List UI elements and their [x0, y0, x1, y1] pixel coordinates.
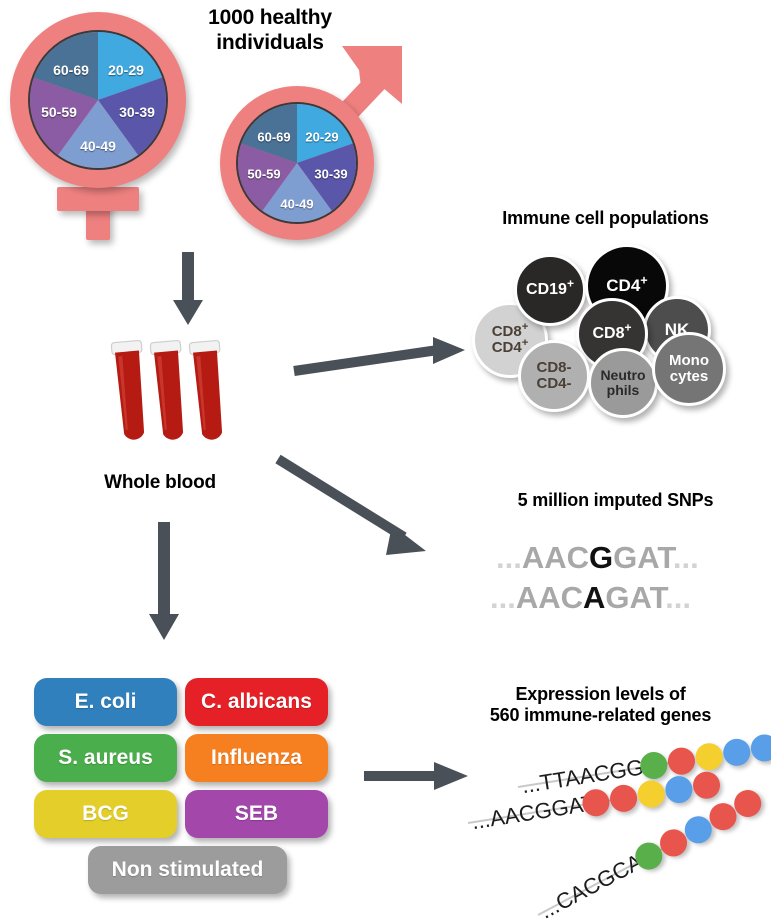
snp-sequence-bottom: ...AACAGAT...	[490, 580, 691, 616]
snp-suffix-dots: ...	[665, 580, 691, 615]
male-age-pie: 20-29 30-39 40-49 50-59 60-69	[236, 102, 358, 224]
stimulant-label: BCG	[82, 802, 129, 826]
pie-label-60-69: 60-69	[257, 130, 290, 145]
stimulant-seb[interactable]: SEB	[185, 790, 328, 838]
stimulant-label: S. aureus	[58, 746, 153, 770]
stimulant-influenza[interactable]: Influenza	[185, 734, 328, 782]
cell-sup-2: +	[522, 337, 529, 349]
whole-blood-tubes	[100, 338, 230, 458]
snp-before-bases: AAC	[516, 580, 583, 615]
cell-label-line2: CD4-	[536, 375, 571, 392]
strand-sequence: ...AACGGAT	[470, 790, 597, 835]
immune-cell-neutrophils[interactable]: Neutrophils	[588, 348, 658, 418]
cell-label-line1: CD8-	[536, 359, 571, 376]
cell-label-line1: CD8	[592, 325, 624, 342]
stimulant-label: SEB	[235, 802, 278, 826]
snp-before-bases: AAC	[522, 540, 589, 575]
cell-label-line2: phils	[607, 382, 640, 398]
immune-cell-cluster: CD8+CD4+ CD19+ CD4+ NK CD8+ CD8-CD4- Neu…	[440, 240, 771, 420]
female-symbol-crossbar	[57, 187, 139, 211]
cohort-to-blood-arrow	[160, 252, 220, 330]
immune-populations-title: Immune cell populations	[440, 208, 771, 229]
immune-cell-monocytes[interactable]: Monocytes	[652, 332, 726, 406]
snp-after-bases: GAT	[613, 540, 673, 575]
snp-prefix-dots: ...	[496, 540, 522, 575]
expression-title: Expression levels of 560 immune-related …	[430, 684, 771, 726]
immune-cell-cd19p[interactable]: CD19+	[514, 254, 586, 326]
snp-variant-base: A	[583, 580, 605, 615]
expression-title-line1: Expression levels of	[430, 684, 771, 705]
snp-after-bases: GAT	[605, 580, 665, 615]
stimulant-label: C. albicans	[201, 690, 312, 714]
cell-label-line1: Neutro	[600, 367, 645, 383]
male-gender-symbol: 20-29 30-39 40-49 50-59 60-69	[206, 40, 406, 240]
blood-to-stimulants-arrow	[140, 522, 200, 644]
stimulant-s-aureus[interactable]: S. aureus	[34, 734, 177, 782]
blood-tubes-svg	[100, 338, 230, 460]
stimulants-to-expression-arrow	[362, 756, 472, 796]
female-age-pie: 20-29 30-39 40-49 50-59 60-69	[28, 30, 168, 170]
cell-label-line1: Mono	[669, 352, 709, 369]
stimulant-label: E. coli	[75, 690, 137, 714]
stimulant-c-albicans[interactable]: C. albicans	[185, 678, 328, 726]
expression-title-line2: 560 immune-related genes	[430, 705, 771, 726]
strand-bead	[636, 779, 667, 810]
cell-label-line1: CD8	[492, 323, 522, 340]
cell-label-line1: CD19	[526, 281, 567, 298]
pie-label-30-39: 30-39	[119, 104, 155, 120]
stimulant-e-coli[interactable]: E. coli	[34, 678, 177, 726]
pie-label-50-59: 50-59	[247, 167, 280, 182]
strand-bead	[608, 783, 639, 814]
strand-bead	[721, 737, 752, 768]
pie-label-60-69: 60-69	[53, 62, 89, 78]
snp-prefix-dots: ...	[490, 580, 516, 615]
pie-label-20-29: 20-29	[108, 62, 144, 78]
pie-label-40-49: 40-49	[80, 138, 116, 154]
stimulant-non-stimulated[interactable]: Non stimulated	[88, 846, 287, 894]
cell-sup-1: +	[567, 276, 574, 290]
strand-bead	[691, 770, 722, 801]
snp-suffix-dots: ...	[673, 540, 699, 575]
pie-label-40-49: 40-49	[280, 197, 313, 212]
cell-label-line2: CD4	[492, 339, 522, 356]
stimulant-label: Influenza	[211, 746, 302, 770]
snp-variant-base: G	[589, 540, 613, 575]
cell-sup-1: +	[640, 272, 647, 287]
blood-to-snp-arrow	[276, 455, 446, 565]
pie-label-30-39: 30-39	[314, 167, 347, 182]
cell-label-line1: CD4	[606, 276, 640, 295]
pie-label-50-59: 50-59	[41, 104, 77, 120]
strand-bead	[663, 774, 694, 805]
pie-label-20-29: 20-29	[305, 130, 338, 145]
cell-label-line2: cytes	[670, 368, 708, 385]
cell-sup-1: +	[522, 321, 529, 333]
strand-bead	[749, 733, 771, 764]
stimulant-bcg[interactable]: BCG	[34, 790, 177, 838]
whole-blood-label: Whole blood	[60, 472, 260, 494]
immune-cell-cd8n-cd4n[interactable]: CD8-CD4-	[518, 340, 590, 412]
snp-title: 5 million imputed SNPs	[460, 490, 771, 511]
stimulant-label: Non stimulated	[112, 858, 264, 882]
figure-canvas: 1000 healthy individuals 20-29 30-39 40-…	[0, 0, 771, 922]
cell-sup-1: +	[625, 320, 632, 334]
female-gender-symbol: 20-29 30-39 40-49 50-59 60-69	[10, 12, 190, 242]
snp-sequence-top: ...AACGGAT...	[496, 540, 699, 576]
